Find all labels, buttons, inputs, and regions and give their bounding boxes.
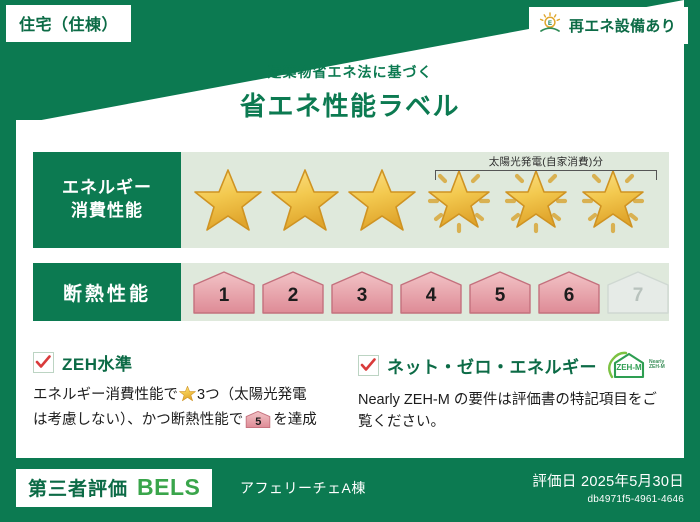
- insulation-grade-value: 1: [191, 285, 257, 307]
- svg-text:E: E: [548, 21, 552, 27]
- star-icon: [266, 152, 343, 248]
- renewable-equipment-badge: E 再エネ設備あり: [529, 7, 688, 44]
- energy-row-value: 太陽光発電(自家消費)分: [181, 152, 669, 248]
- insulation-grade-badge: 3: [329, 269, 395, 316]
- zeh-m-logo-subtext: Nearly ZEH-M: [649, 360, 665, 371]
- zeh-body-part1: エネルギー消費性能で: [33, 387, 178, 403]
- zeh-standard-title: ZEH水準: [62, 350, 133, 375]
- star-icon: [179, 385, 196, 409]
- footer-meta: 評価日 2025年5月30日 db4971f5-4961-4646: [532, 470, 684, 505]
- svg-text:ZEH-M: ZEH-M: [616, 363, 642, 372]
- net-zero-energy-block: ネット・ゼロ・エネルギー ZEH-M Nearly ZEH-M Nearly Z…: [358, 350, 668, 434]
- bels-certification-box: 第三者評価 BELS: [16, 469, 212, 507]
- zeh-m-logo: ZEH-M Nearly ZEH-M: [605, 350, 665, 380]
- net-zero-body: Nearly ZEH-M の要件は評価書の特記項目をご覧ください。: [358, 389, 668, 434]
- property-name: アフェリーチェA棟: [240, 478, 366, 498]
- star-icon: [189, 152, 266, 248]
- insulation-grade-scale: 1 2 3 4 5: [181, 263, 669, 321]
- energy-row-label-line1: エネルギー: [62, 177, 152, 200]
- zeh-standard-block: ZEH水準 エネルギー消費性能で3つ（太陽光発電は考慮しない）、かつ断熱性能で5…: [33, 350, 333, 432]
- zeh-body-part2: は考慮しない）、かつ断熱性能で: [33, 412, 243, 428]
- energy-performance-label: 住宅（住棟） E 再エネ設備あり 建築物省エネ法に基づく 省エネ性能ラベル: [0, 0, 700, 522]
- insulation-grade-badge: 4: [398, 269, 464, 316]
- solar-sun-icon: E: [538, 12, 562, 39]
- bels-logo-text: BELS: [137, 474, 200, 501]
- insulation-grade-value: 2: [260, 285, 326, 307]
- insulation-grade-value: 5: [467, 285, 533, 307]
- renewable-badge-label: 再エネ設備あり: [569, 15, 676, 36]
- insulation-row-value: 1 2 3 4 5: [181, 263, 669, 321]
- zeh-standard-header: ZEH水準: [33, 350, 333, 375]
- zeh-standard-body: エネルギー消費性能で3つ（太陽光発電は考慮しない）、かつ断熱性能で5を達成: [33, 384, 333, 432]
- insulation-grade-value: 6: [536, 285, 602, 307]
- insulation-grade-inline-badge: 5: [245, 410, 271, 429]
- insulation-row-label: 断熱性能: [33, 263, 181, 321]
- evaluation-date: 評価日 2025年5月30日: [532, 470, 684, 491]
- insulation-grade-badge: 1: [191, 269, 257, 316]
- zeh-body-stars: 3つ（太陽光発電: [197, 387, 307, 403]
- energy-performance-row: エネルギー 消費性能 太陽光発電(自家消費)分: [33, 152, 669, 248]
- check-icon: [33, 352, 54, 373]
- insulation-performance-row: 断熱性能 1 2 3 4: [33, 263, 669, 321]
- insulation-grade-badge: 5: [467, 269, 533, 316]
- insulation-grade-badge: 2: [260, 269, 326, 316]
- star-icon: [343, 152, 420, 248]
- footer-band: 第三者評価 BELS アフェリーチェA棟 評価日 2025年5月30日 db49…: [0, 458, 700, 522]
- net-zero-title: ネット・ゼロ・エネルギー: [387, 353, 597, 378]
- insulation-grade-value: 7: [605, 285, 671, 307]
- solar-annotation: 太陽光発電(自家消費)分: [435, 154, 657, 180]
- solar-annotation-label: 太陽光発電(自家消費)分: [435, 154, 657, 169]
- document-uid: db4971f5-4961-4646: [532, 494, 684, 505]
- energy-row-label: エネルギー 消費性能: [33, 152, 181, 248]
- housing-type-tab: 住宅（住棟）: [6, 5, 131, 42]
- zeh-body-part3: を達成: [273, 412, 317, 428]
- check-icon: [358, 355, 379, 376]
- insulation-grade-value: 4: [398, 285, 464, 307]
- title-block: 建築物省エネ法に基づく 省エネ性能ラベル: [0, 62, 700, 123]
- title-subtitle: 建築物省エネ法に基づく: [0, 62, 700, 82]
- solar-annotation-bracket: [435, 170, 657, 180]
- net-zero-header: ネット・ゼロ・エネルギー ZEH-M Nearly ZEH-M: [358, 350, 668, 380]
- insulation-grade-badge-inactive: 7: [605, 269, 671, 316]
- insulation-grade-badge: 6: [536, 269, 602, 316]
- insulation-grade-value: 3: [329, 285, 395, 307]
- zeh-m-sub-line2: ZEH-M: [649, 364, 665, 370]
- energy-row-label-line2: 消費性能: [71, 200, 143, 223]
- zeh-body-grade: 5: [245, 414, 271, 431]
- page-title: 省エネ性能ラベル: [0, 86, 700, 123]
- third-party-label: 第三者評価: [28, 474, 128, 501]
